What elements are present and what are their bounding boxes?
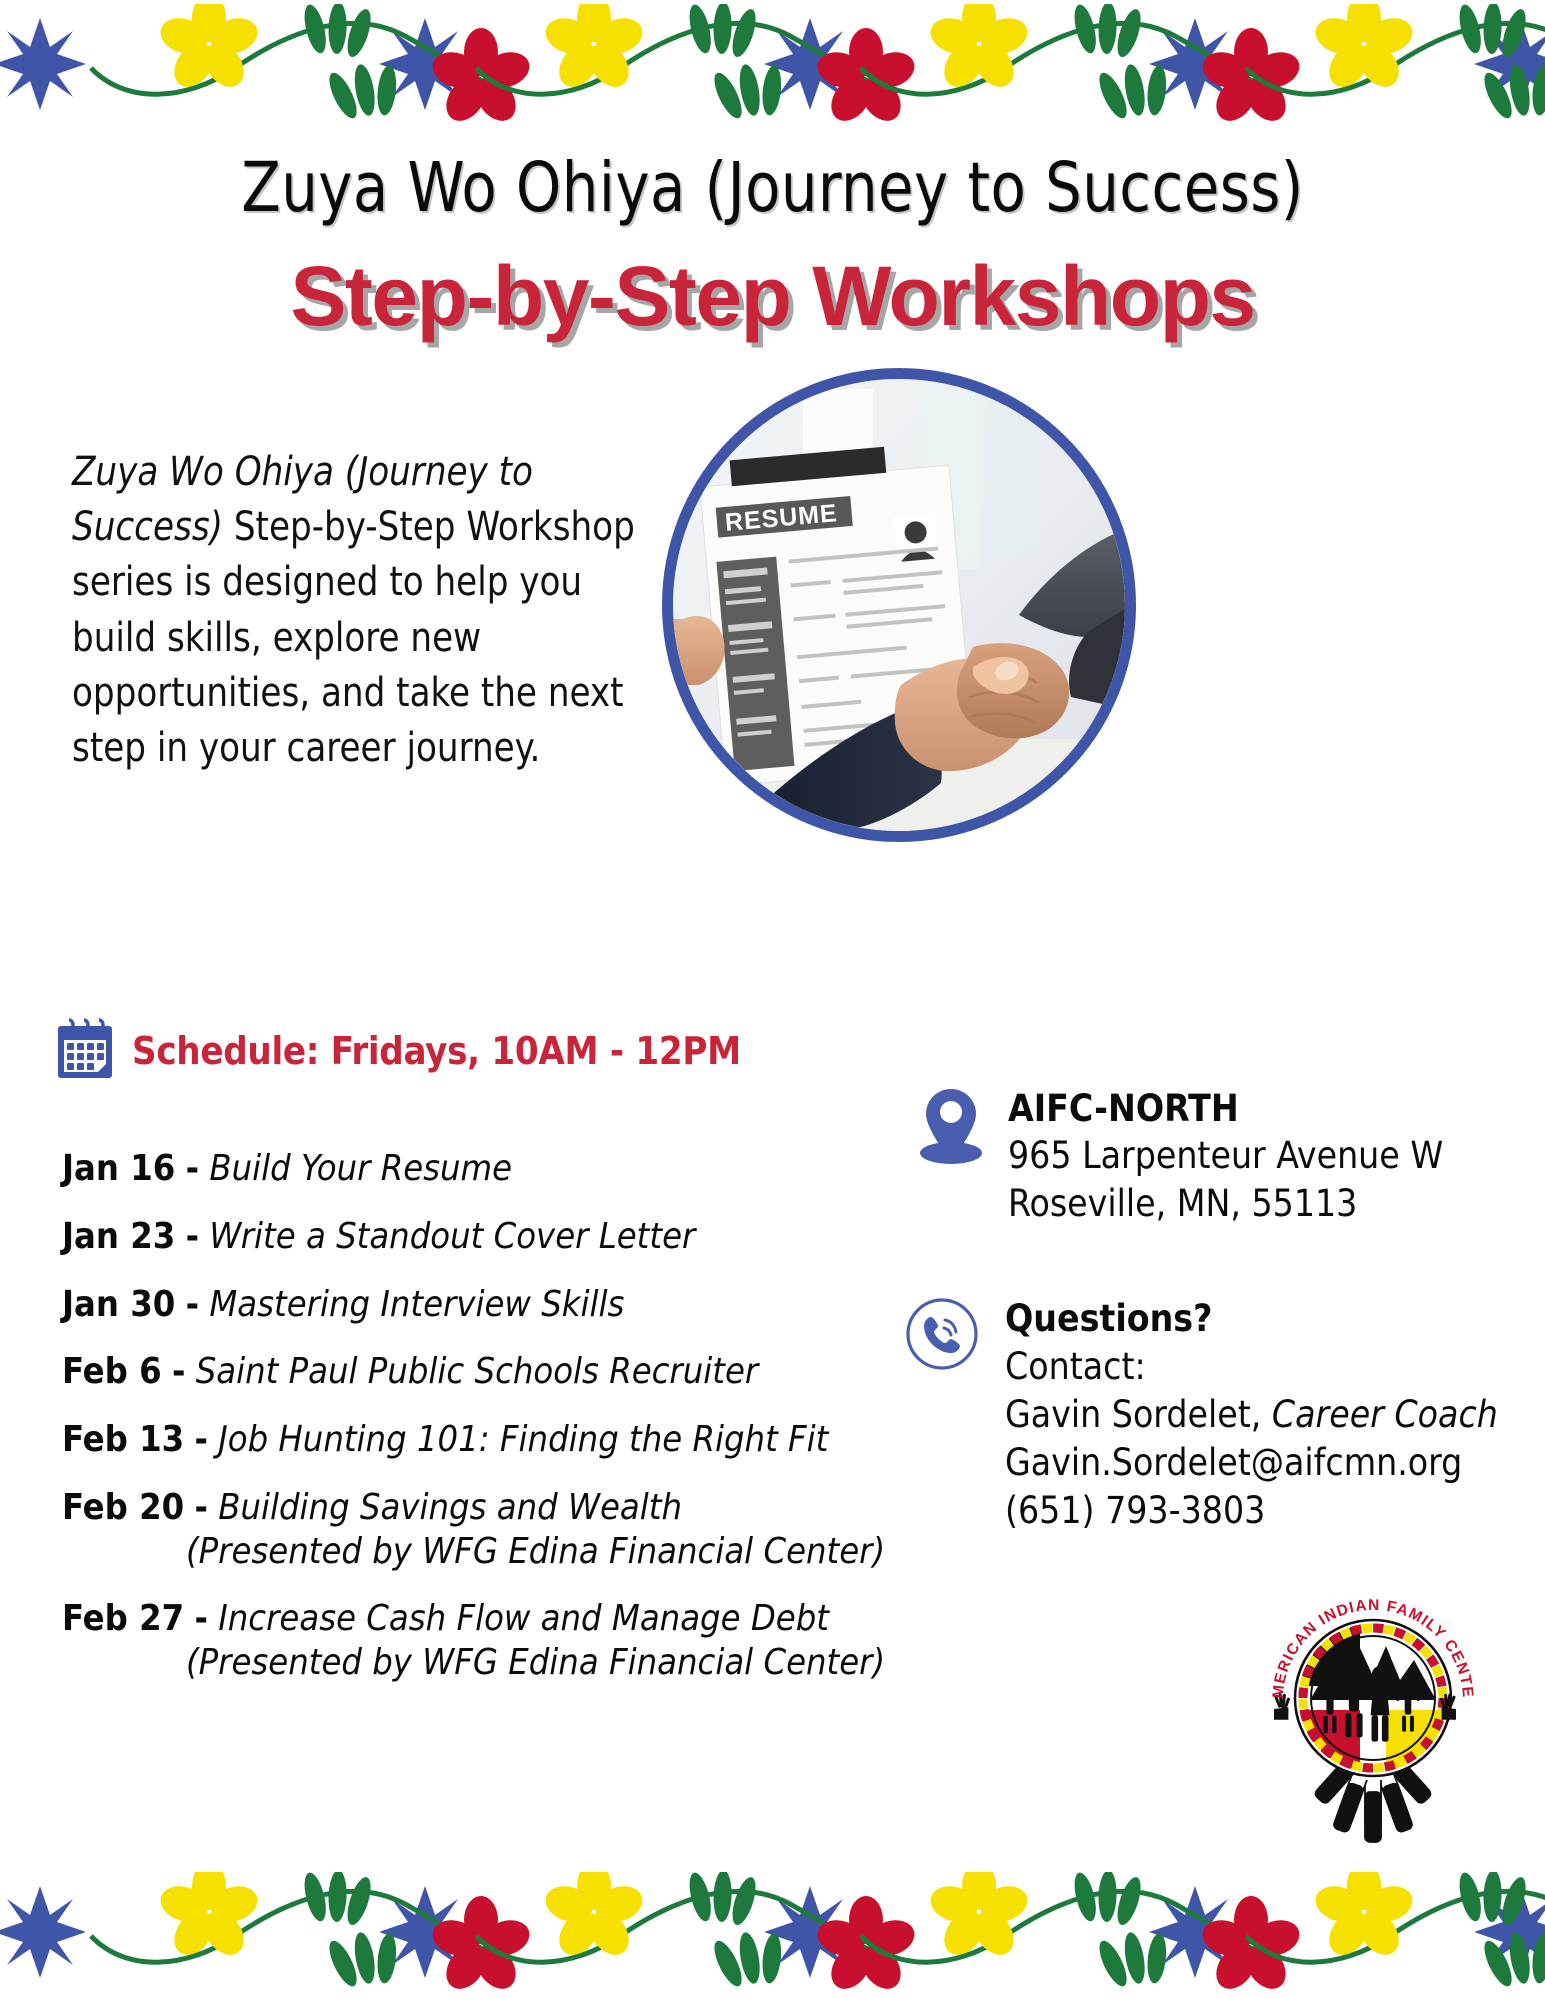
location-city-state-zip: Roseville, MN, 55113: [1008, 1180, 1443, 1227]
contact-label: Contact:: [1005, 1343, 1498, 1391]
decorative-border-top: [0, 4, 1545, 124]
schedule-dash: -: [194, 1487, 207, 1528]
location-street: 965 Larpenteur Avenue W: [1008, 1132, 1443, 1179]
schedule-topic: Build Your Resume: [209, 1148, 512, 1189]
questions-title: Questions?: [1005, 1295, 1498, 1343]
location-name: AIFC-NORTH: [1008, 1085, 1443, 1132]
list-item: Jan 16 - Build Your Resume: [62, 1148, 892, 1190]
schedule-date: Feb 20: [62, 1487, 184, 1528]
schedule-dash: -: [186, 1148, 199, 1189]
contact-person-line: Gavin Sordelet, Career Coach: [1005, 1391, 1498, 1439]
intro-paragraph: Zuya Wo Ohiya (Journey to Success) Step-…: [72, 445, 661, 776]
schedule-date: Feb 6: [62, 1351, 162, 1392]
schedule-date: Feb 27: [62, 1598, 184, 1639]
schedule-dash: -: [186, 1284, 199, 1325]
contact-person: Gavin Sordelet,: [1005, 1393, 1261, 1436]
handshake-photo-inner: RESUME: [673, 379, 1125, 831]
schedule-dash: -: [194, 1419, 207, 1460]
schedule-topic: Mastering Interview Skills: [209, 1284, 624, 1325]
contact-email[interactable]: Gavin.Sordelet@aifcmn.org: [1005, 1439, 1498, 1487]
schedule-dash: -: [194, 1598, 207, 1639]
schedule-subnote: (Presented by WFG Edina Financial Center…: [186, 1642, 892, 1684]
list-item: Jan 23 - Write a Standout Cover Letter: [62, 1216, 892, 1258]
decorative-border-bottom: [0, 1872, 1545, 1992]
list-item: Feb 20 - Building Savings and Wealth (Pr…: [62, 1487, 892, 1573]
schedule-date: Jan 30: [62, 1284, 175, 1325]
calendar-icon: [56, 1018, 114, 1084]
questions-text: Questions? Contact: Gavin Sordelet, Care…: [1005, 1295, 1498, 1535]
schedule-date: Feb 13: [62, 1419, 184, 1460]
schedule-subnote: (Presented by WFG Edina Financial Center…: [186, 1531, 892, 1573]
schedule-topic: Job Hunting 101: Finding the Right Fit: [218, 1419, 828, 1460]
schedule-topic: Building Savings and Wealth: [218, 1487, 682, 1528]
american-indian-family-center-logo: AMERICAN INDIAN FAMILY CENTER: [1248, 1550, 1498, 1850]
intro-italic-lead2: Success): [72, 504, 223, 550]
contact-phone[interactable]: (651) 793-3803: [1005, 1487, 1498, 1535]
contact-role: Career Coach: [1272, 1393, 1498, 1436]
schedule-dash: -: [172, 1351, 185, 1392]
schedule-topic: Write a Standout Cover Letter: [209, 1216, 695, 1257]
schedule-dash: -: [186, 1216, 199, 1257]
phone-icon: [903, 1295, 981, 1377]
schedule-heading: Schedule: Fridays, 10AM - 12PM: [56, 1018, 741, 1084]
page-headline: Step-by-Step Workshops: [0, 248, 1545, 345]
schedule-topic: Saint Paul Public Schools Recruiter: [196, 1351, 759, 1392]
schedule-heading-text: Schedule: Fridays, 10AM - 12PM: [132, 1029, 741, 1073]
intro-italic-lead: Zuya Wo Ohiya (Journey to: [72, 449, 533, 495]
list-item: Feb 27 - Increase Cash Flow and Manage D…: [62, 1598, 892, 1684]
schedule-topic: Increase Cash Flow and Manage Debt: [218, 1598, 829, 1639]
schedule-list: Jan 16 - Build Your Resume Jan 23 - Writ…: [62, 1148, 892, 1710]
list-item: Feb 13 - Job Hunting 101: Finding the Ri…: [62, 1419, 892, 1461]
location-text: AIFC-NORTH 965 Larpenteur Avenue W Rosev…: [1008, 1085, 1443, 1227]
photo-document-label: RESUME: [0, 0, 1, 1]
schedule-date: Jan 23: [62, 1216, 175, 1257]
location-block: AIFC-NORTH 965 Larpenteur Avenue W Rosev…: [918, 1085, 1443, 1227]
handshake-photo: RESUME: [662, 368, 1136, 842]
map-pin-icon: [918, 1085, 984, 1171]
questions-block: Questions? Contact: Gavin Sordelet, Care…: [903, 1295, 1498, 1535]
list-item: Feb 6 - Saint Paul Public Schools Recrui…: [62, 1351, 892, 1393]
list-item: Jan 30 - Mastering Interview Skills: [62, 1284, 892, 1326]
photo-alt-text: handshake over a resume document: [0, 0, 1, 1]
schedule-date: Jan 16: [62, 1148, 175, 1189]
page-title: Zuya Wo Ohiya (Journey to Success): [54, 148, 1491, 228]
